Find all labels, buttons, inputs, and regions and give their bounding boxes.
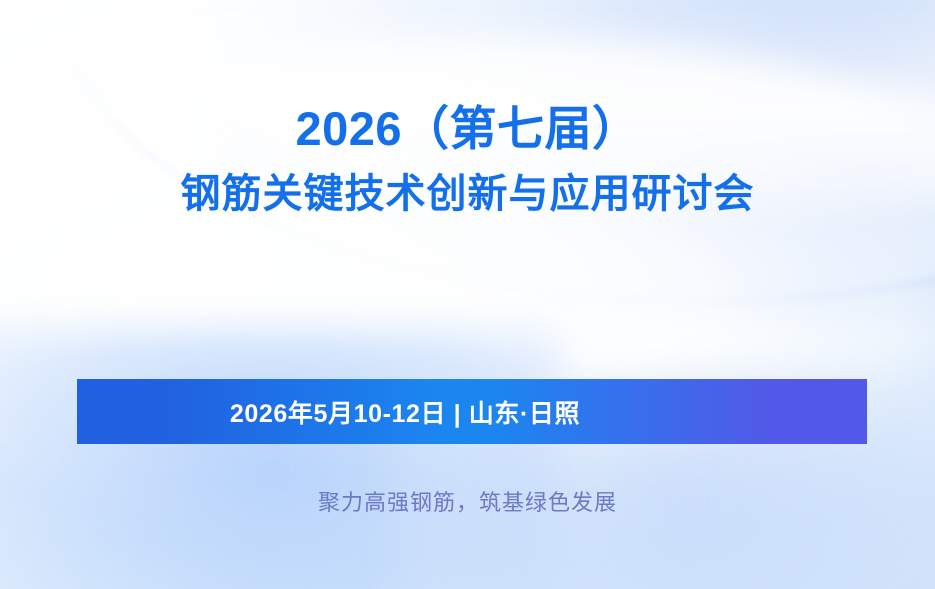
poster-title-block: 2026（第七届） 钢筋关键技术创新与应用研讨会 [0, 104, 935, 215]
poster-tagline: 聚力高强钢筋，筑基绿色发展 [0, 485, 935, 517]
conference-poster: 2026（第七届） 钢筋关键技术创新与应用研讨会 2026年5月10-12日 |… [0, 0, 935, 589]
page-title-primary: 2026（第七届） [0, 104, 935, 153]
date-location-banner: 2026年5月10-12日 | 山东·日照 [77, 379, 867, 444]
poster-content: 2026（第七届） 钢筋关键技术创新与应用研讨会 2026年5月10-12日 |… [0, 0, 935, 589]
page-title-secondary: 钢筋关键技术创新与应用研讨会 [0, 173, 935, 215]
date-location-text: 2026年5月10-12日 | 山东·日照 [77, 394, 867, 430]
